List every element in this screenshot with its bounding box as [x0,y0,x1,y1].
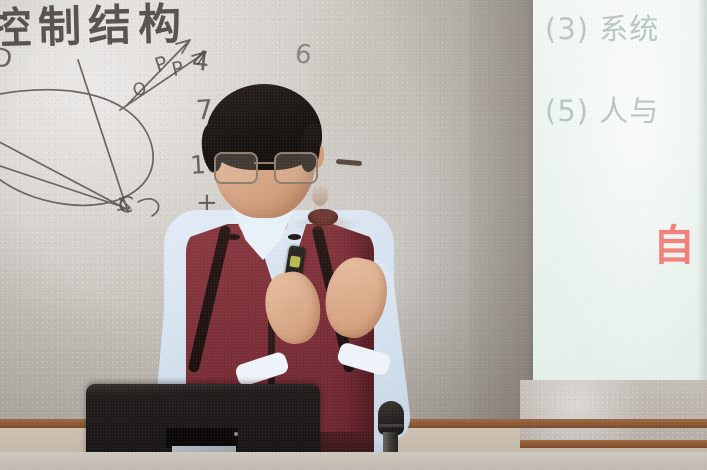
eyebrow-right [336,159,362,166]
nose [312,184,328,206]
monitor-screw [234,432,238,436]
monitor-mount-plate [166,428,238,448]
slide-bullet-5: (5) 人与 [545,88,659,130]
microphone-capsule [378,401,404,435]
glasses-bridge [254,162,274,164]
eye-left [227,234,240,240]
wood-rail-right [520,440,707,448]
slide-bullet-3: (3) 系统 [545,6,659,48]
lens-left [214,152,258,184]
slide-highlight-text: 自 [653,212,697,273]
chin-shadow [290,216,360,232]
projection-screen: (3) 系统 (5) 人与 自 [533,0,707,386]
screen-right-edge [697,0,707,386]
lecture-photo-scene: 控制结构 D P P O C 4 7 10 6 + (3) 系统 (5) 人与 … [0,0,707,470]
desk-surface [0,452,707,470]
remote-indicator [289,255,301,267]
projector-glow [533,0,707,386]
wall-below-screen [520,380,707,442]
lens-right [274,152,318,184]
eye-right [288,234,301,240]
microphone-ring [379,424,403,427]
eyeglasses [212,152,316,182]
wall-texture-right [520,380,707,442]
